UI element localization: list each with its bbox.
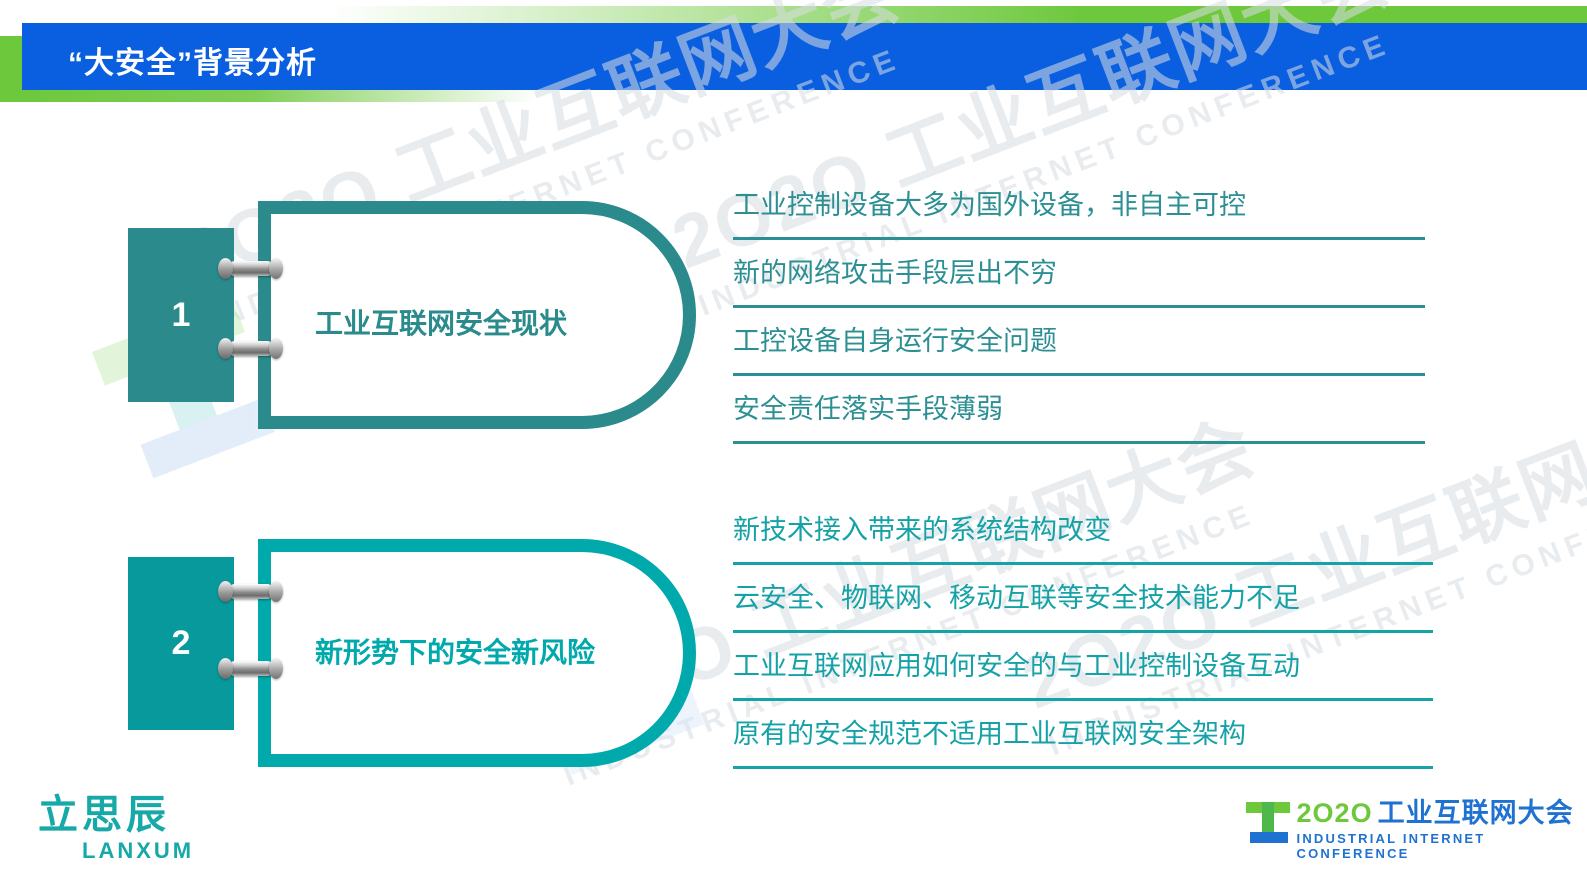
bullet-text: 原有的安全规范不适用工业互联网安全架构 <box>733 712 1246 755</box>
bullet-list-2: 新技术接入带来的系统结构改变 云安全、物联网、移动互联等安全技术能力不足 工业互… <box>733 497 1433 769</box>
bullet-text: 新技术接入带来的系统结构改变 <box>733 508 1111 551</box>
header-green-bottom-bar <box>18 89 538 102</box>
page-title: “大安全”背景分析 <box>68 38 317 82</box>
block-number-2: 2 <box>172 624 191 663</box>
binder-ring-icon <box>228 584 274 599</box>
bullet-row: 新技术接入带来的系统结构改变 <box>733 497 1433 565</box>
slide-canvas: “大安全”背景分析 2O2O 工业互联网大会 INDUSTRIAL INTERN… <box>0 0 1587 892</box>
block-number-1: 1 <box>172 296 191 335</box>
bullet-row: 云安全、物联网、移动互联等安全技术能力不足 <box>733 565 1433 633</box>
bullet-row: 原有的安全规范不适用工业互联网安全架构 <box>733 701 1433 769</box>
lanxum-logo: 立思辰 LANXUM <box>38 795 194 862</box>
lanxum-logo-en: LANXUM <box>82 840 194 862</box>
conference-gong-icon <box>1246 800 1288 844</box>
bullet-list-1: 工业控制设备大多为国外设备，非自主可控 新的网络攻击手段层出不穷 工控设备自身运… <box>733 172 1425 444</box>
binder-ring-icon <box>228 261 274 276</box>
block-label-1: 工业互联网安全现状 <box>315 302 567 342</box>
conference-logo-text: 2O2O 工业互联网大会 INDUSTRIAL INTERNET CONFERE… <box>1297 800 1587 861</box>
block-number-box-2: 2 <box>128 557 234 730</box>
bullet-text: 新的网络攻击手段层出不穷 <box>733 251 1057 294</box>
conference-year: 2O2O <box>1297 800 1373 827</box>
bullet-text: 工业控制设备大多为国外设备，非自主可控 <box>733 183 1246 226</box>
bullet-text: 安全责任落实手段薄弱 <box>733 387 1003 430</box>
bullet-text: 工业互联网应用如何安全的与工业控制设备互动 <box>733 644 1300 687</box>
bullet-row: 新的网络攻击手段层出不穷 <box>733 240 1425 308</box>
bullet-text: 云安全、物联网、移动互联等安全技术能力不足 <box>733 576 1300 619</box>
block-number-box-1: 1 <box>128 228 234 402</box>
bullet-text: 工控设备自身运行安全问题 <box>733 319 1057 362</box>
conference-name-cn: 工业互联网大会 <box>1378 800 1574 827</box>
bullet-row: 工业互联网应用如何安全的与工业控制设备互动 <box>733 633 1433 701</box>
binder-ring-icon <box>228 341 274 356</box>
bullet-row: 工业控制设备大多为国外设备，非自主可控 <box>733 172 1425 240</box>
bullet-row: 工控设备自身运行安全问题 <box>733 308 1425 376</box>
lanxum-logo-cn: 立思辰 <box>38 795 194 835</box>
header-green-top-bar <box>330 6 1587 24</box>
conference-name-en: INDUSTRIAL INTERNET CONFERENCE <box>1297 831 1587 861</box>
conference-logo: 2O2O 工业互联网大会 INDUSTRIAL INTERNET CONFERE… <box>1246 800 1587 861</box>
block-label-2: 新形势下的安全新风险 <box>315 631 595 671</box>
binder-ring-icon <box>228 661 274 676</box>
bullet-row: 安全责任落实手段薄弱 <box>733 376 1425 444</box>
